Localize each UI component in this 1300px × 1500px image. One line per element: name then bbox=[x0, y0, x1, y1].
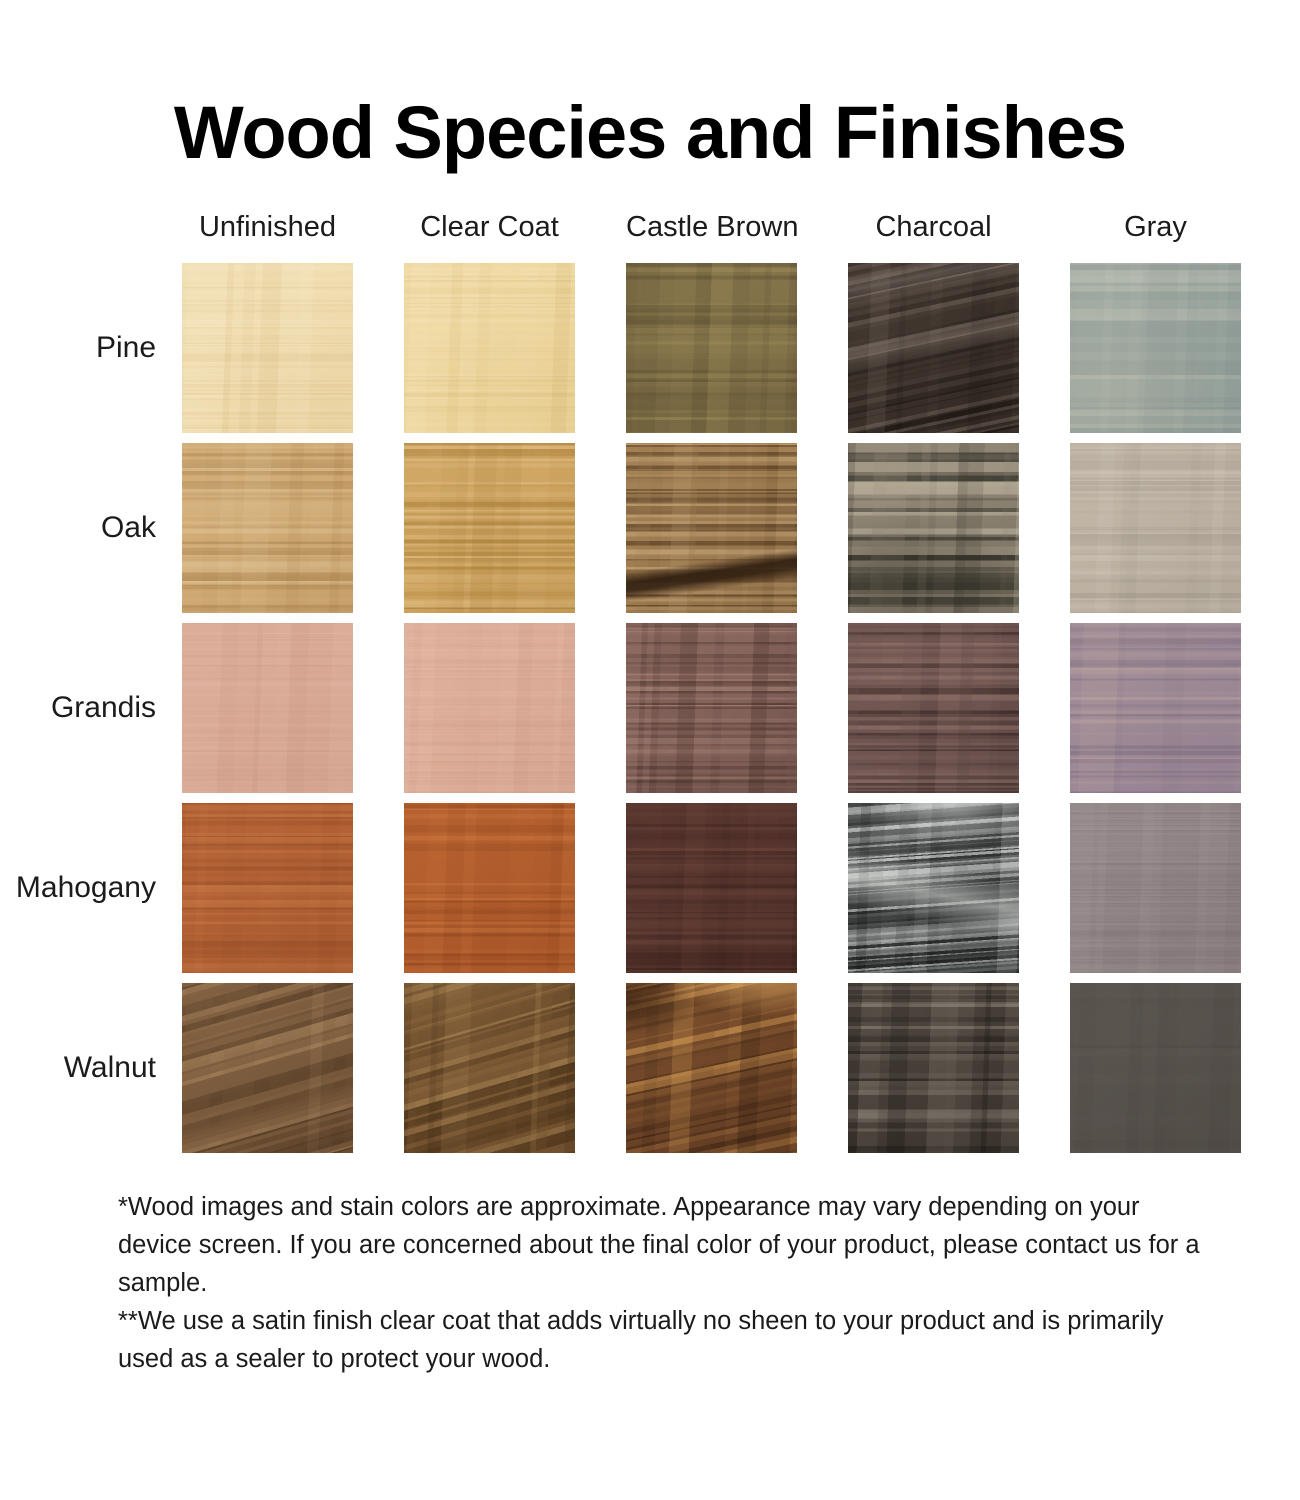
wood-grain-layer bbox=[404, 983, 575, 1153]
wood-grain-layer bbox=[182, 263, 353, 433]
swatch-oak-unfinished[interactable] bbox=[182, 443, 353, 613]
wood-grain-layer bbox=[404, 443, 575, 613]
swatch-mahogany-clear-coat[interactable] bbox=[404, 803, 575, 973]
column-header-charcoal: Charcoal bbox=[848, 213, 1019, 242]
wood-grain-layer bbox=[182, 983, 353, 1153]
wood-grain-layer bbox=[182, 803, 353, 973]
swatch-rows: PineOakGrandisMahoganyWalnut bbox=[182, 263, 1242, 1153]
wood-grain-layer bbox=[404, 983, 575, 1153]
wood-grain-layer bbox=[626, 623, 797, 793]
wood-grain-layer bbox=[1070, 263, 1241, 433]
swatch-mahogany-unfinished[interactable] bbox=[182, 803, 353, 973]
column-header-clear-coat: Clear Coat bbox=[404, 213, 575, 242]
wood-grain-layer bbox=[626, 263, 797, 433]
swatch-pine-unfinished[interactable] bbox=[182, 263, 353, 433]
wood-grain-layer bbox=[626, 443, 797, 613]
wood-grain-layer bbox=[1070, 803, 1241, 973]
wood-grain-layer bbox=[1070, 263, 1241, 433]
wood-grain-layer bbox=[1070, 983, 1241, 1153]
swatch-grandis-unfinished[interactable] bbox=[182, 623, 353, 793]
wood-grain-layer bbox=[182, 443, 353, 613]
column-header-unfinished: Unfinished bbox=[182, 213, 353, 242]
wood-grain-layer bbox=[404, 623, 575, 793]
wood-grain-layer bbox=[182, 623, 353, 793]
species-row-walnut: Walnut bbox=[182, 983, 1242, 1153]
wood-tone-layer bbox=[626, 263, 797, 433]
wood-tone-layer bbox=[1070, 263, 1241, 433]
wood-grain-layer bbox=[848, 983, 1019, 1153]
swatch-pine-clear-coat[interactable] bbox=[404, 263, 575, 433]
swatch-oak-charcoal[interactable] bbox=[848, 443, 1019, 613]
wood-tone-layer bbox=[626, 443, 797, 613]
swatch-pine-charcoal[interactable] bbox=[848, 263, 1019, 433]
wood-grain-layer bbox=[848, 263, 1019, 433]
species-row-oak: Oak bbox=[182, 443, 1242, 613]
swatch-pine-castle-brown[interactable] bbox=[626, 263, 797, 433]
column-header-castle-brown: Castle Brown bbox=[626, 213, 797, 242]
wood-tone-layer bbox=[404, 803, 575, 973]
wood-tone-layer bbox=[1070, 623, 1241, 793]
wood-tone-layer bbox=[1070, 443, 1241, 613]
wood-finish-chart: Wood Species and Finishes Unfinished Cle… bbox=[0, 0, 1300, 1500]
wood-grain-layer bbox=[1070, 623, 1241, 793]
wood-grain-layer bbox=[626, 623, 797, 793]
wood-grain-layer bbox=[404, 263, 575, 433]
wood-grain-layer bbox=[626, 443, 797, 613]
wood-tone-layer bbox=[848, 263, 1019, 433]
wood-grain-layer bbox=[1070, 983, 1241, 1153]
species-row-pine: Pine bbox=[182, 263, 1242, 433]
wood-grain-layer bbox=[1070, 623, 1241, 793]
wood-grain-layer bbox=[182, 623, 353, 793]
species-row-grandis: Grandis bbox=[182, 623, 1242, 793]
wood-grain-layer bbox=[848, 263, 1019, 433]
footnotes: *Wood images and stain colors are approx… bbox=[118, 1188, 1210, 1378]
wood-tone-layer bbox=[1070, 983, 1241, 1153]
wood-tone-layer bbox=[182, 263, 353, 433]
wood-grain-layer bbox=[848, 983, 1019, 1153]
footnote-colors-approximate: *Wood images and stain colors are approx… bbox=[118, 1188, 1210, 1302]
swatch-oak-clear-coat[interactable] bbox=[404, 443, 575, 613]
wood-tone-layer bbox=[1070, 803, 1241, 973]
wood-tone-layer bbox=[404, 263, 575, 433]
wood-tone-layer bbox=[182, 443, 353, 613]
row-label-oak: Oak bbox=[101, 443, 156, 613]
swatch-grandis-castle-brown[interactable] bbox=[626, 623, 797, 793]
wood-grain-layer bbox=[626, 803, 797, 973]
wood-tone-layer bbox=[182, 803, 353, 973]
wood-grain-layer bbox=[404, 803, 575, 973]
swatch-oak-gray[interactable] bbox=[1070, 443, 1241, 613]
swatch-walnut-unfinished[interactable] bbox=[182, 983, 353, 1153]
wood-grain-layer bbox=[848, 803, 1019, 973]
swatch-pine-gray[interactable] bbox=[1070, 263, 1241, 433]
wood-grain-layer bbox=[404, 803, 575, 973]
wood-tone-layer bbox=[626, 623, 797, 793]
wood-grain-layer bbox=[1070, 443, 1241, 613]
wood-grain-layer bbox=[626, 263, 797, 433]
page-title: Wood Species and Finishes bbox=[0, 96, 1300, 170]
wood-grain-layer bbox=[404, 263, 575, 433]
wood-tone-layer bbox=[626, 983, 797, 1153]
swatch-mahogany-charcoal[interactable] bbox=[848, 803, 1019, 973]
swatch-walnut-castle-brown[interactable] bbox=[626, 983, 797, 1153]
swatch-walnut-clear-coat[interactable] bbox=[404, 983, 575, 1153]
wood-grain-layer bbox=[848, 803, 1019, 973]
swatch-mahogany-gray[interactable] bbox=[1070, 803, 1241, 973]
wood-grain-layer bbox=[848, 443, 1019, 613]
row-label-pine: Pine bbox=[96, 263, 156, 433]
wood-tone-layer bbox=[626, 803, 797, 973]
swatch-mahogany-castle-brown[interactable] bbox=[626, 803, 797, 973]
swatch-walnut-gray[interactable] bbox=[1070, 983, 1241, 1153]
wood-grain-layer bbox=[404, 443, 575, 613]
swatch-grandis-clear-coat[interactable] bbox=[404, 623, 575, 793]
wood-grain-layer bbox=[848, 623, 1019, 793]
wood-grain-layer bbox=[182, 803, 353, 973]
swatch-grid: Unfinished Clear Coat Castle Brown Charc… bbox=[182, 213, 1242, 1153]
wood-tone-layer bbox=[848, 983, 1019, 1153]
wood-grain-layer bbox=[626, 983, 797, 1153]
swatch-walnut-charcoal[interactable] bbox=[848, 983, 1019, 1153]
wood-tone-layer bbox=[848, 803, 1019, 973]
swatch-oak-castle-brown[interactable] bbox=[626, 443, 797, 613]
wood-grain-layer bbox=[848, 443, 1019, 613]
swatch-grandis-charcoal[interactable] bbox=[848, 623, 1019, 793]
wood-grain-layer bbox=[1070, 443, 1241, 613]
wood-tone-layer bbox=[848, 623, 1019, 793]
swatch-grandis-gray[interactable] bbox=[1070, 623, 1241, 793]
row-label-mahogany: Mahogany bbox=[16, 803, 156, 973]
column-header-gray: Gray bbox=[1070, 213, 1241, 242]
wood-tone-layer bbox=[182, 623, 353, 793]
row-label-walnut: Walnut bbox=[64, 983, 156, 1153]
species-row-mahogany: Mahogany bbox=[182, 803, 1242, 973]
wood-tone-layer bbox=[182, 983, 353, 1153]
column-header-row: Unfinished Clear Coat Castle Brown Charc… bbox=[182, 213, 1242, 263]
footnote-satin-clear-coat: **We use a satin finish clear coat that … bbox=[118, 1302, 1210, 1378]
wood-grain-layer bbox=[404, 623, 575, 793]
wood-grain-layer bbox=[182, 983, 353, 1153]
wood-grain-layer bbox=[182, 263, 353, 433]
wood-grain-layer bbox=[1070, 803, 1241, 973]
wood-tone-layer bbox=[404, 983, 575, 1153]
wood-tone-layer bbox=[404, 443, 575, 613]
wood-grain-layer bbox=[848, 623, 1019, 793]
wood-tone-layer bbox=[848, 443, 1019, 613]
wood-grain-layer bbox=[182, 443, 353, 613]
row-label-grandis: Grandis bbox=[51, 623, 156, 793]
wood-grain-layer bbox=[626, 803, 797, 973]
wood-tone-layer bbox=[404, 623, 575, 793]
wood-grain-layer bbox=[626, 983, 797, 1153]
